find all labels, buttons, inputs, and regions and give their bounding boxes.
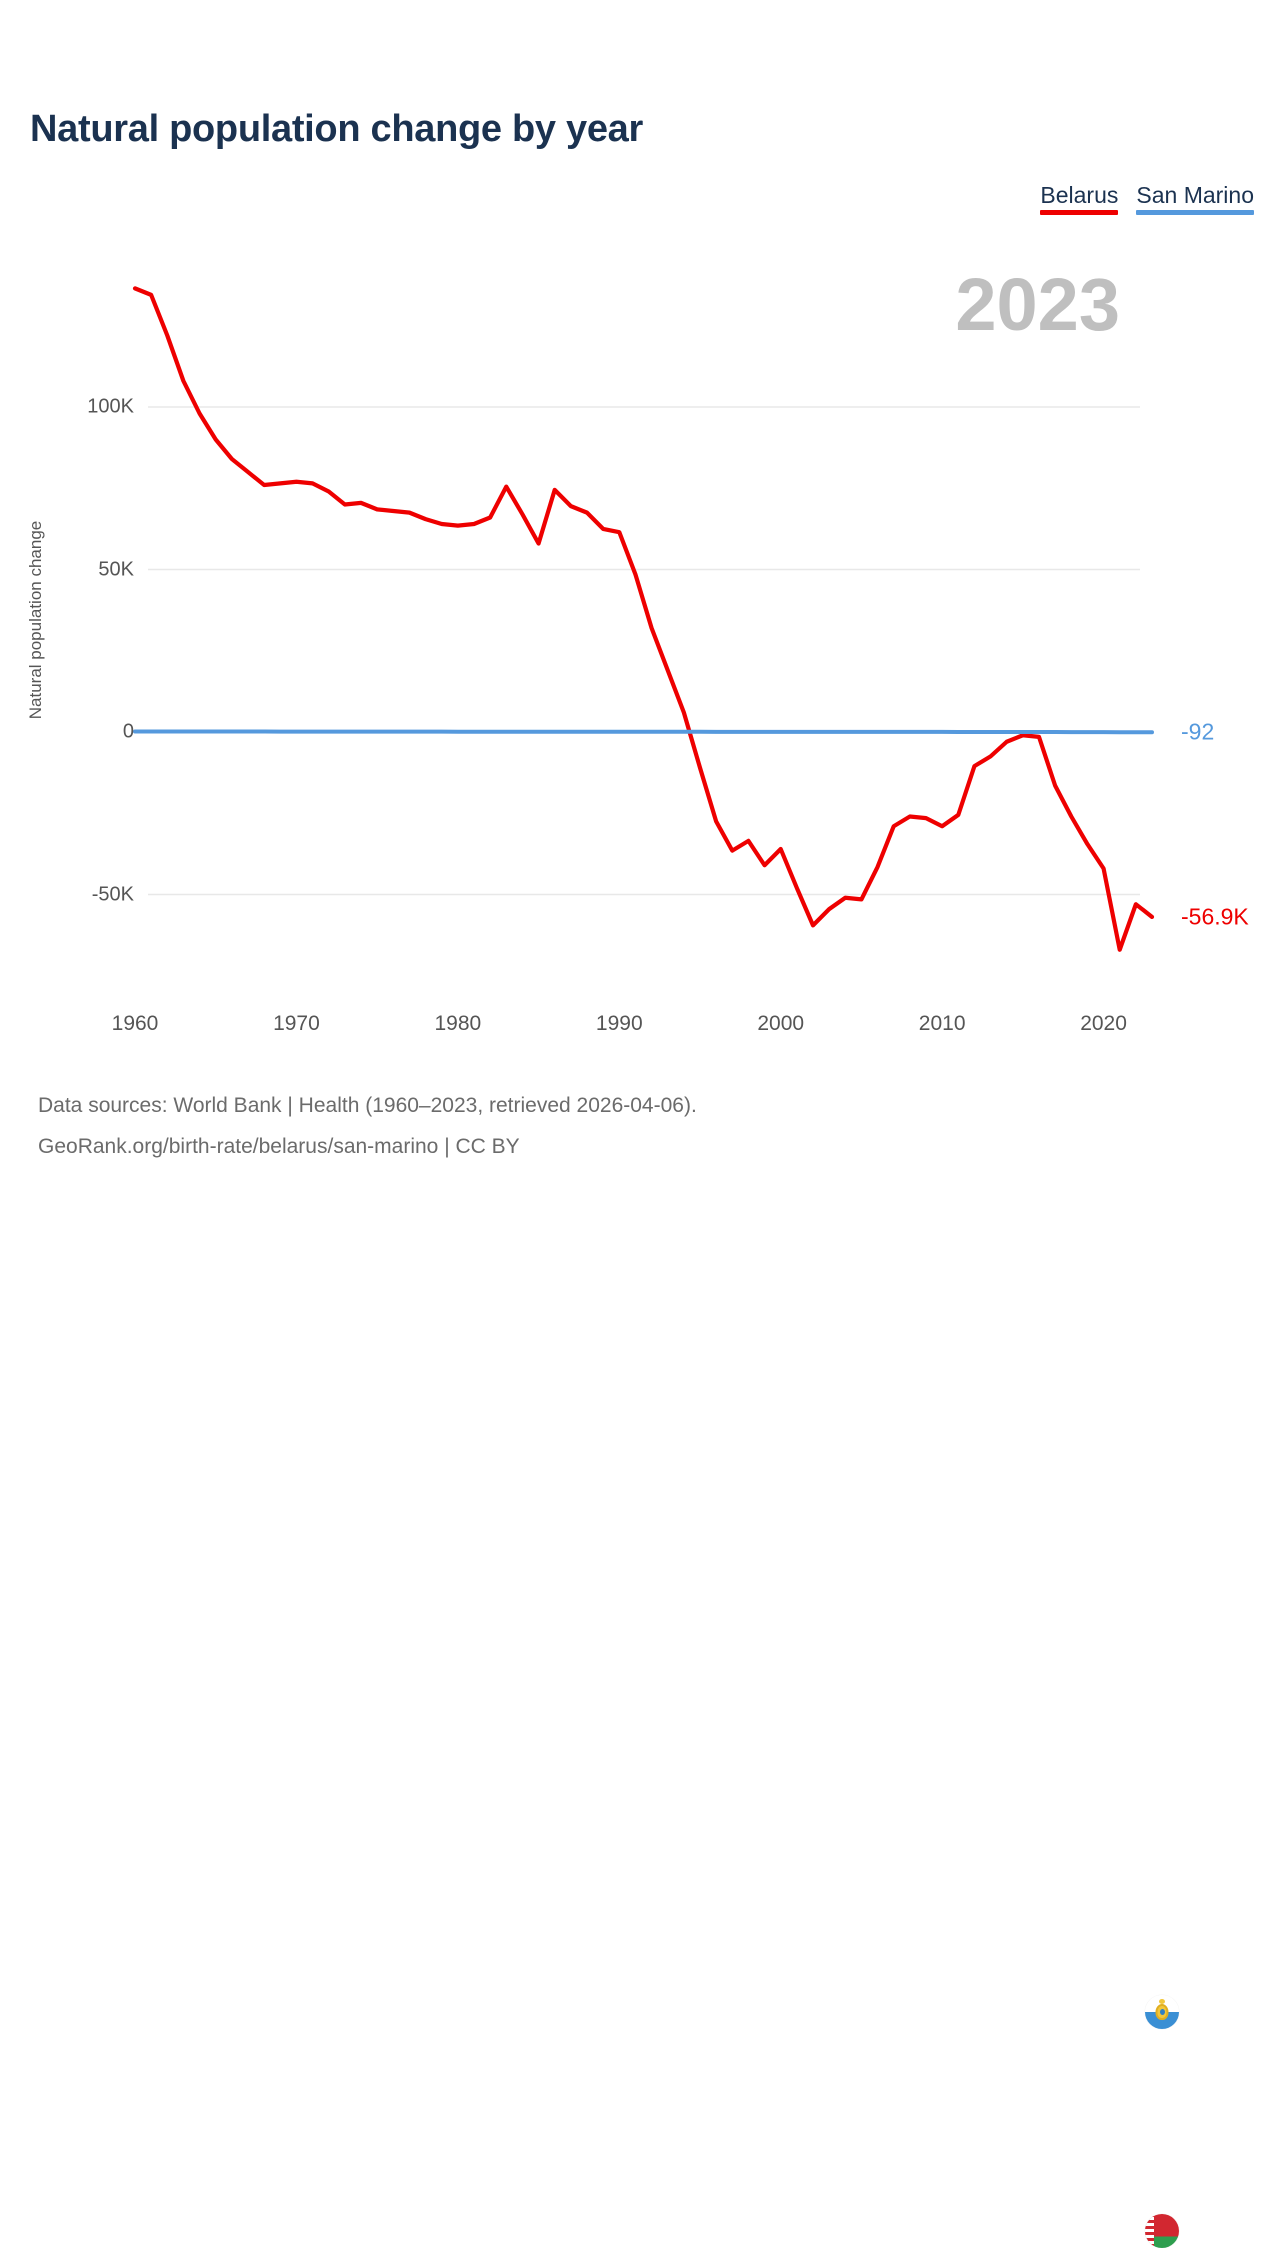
san-marino-flag-icon (1145, 1995, 1179, 2029)
footer-line-url: GeoRank.org/birth-rate/belarus/san-marin… (38, 1126, 697, 1167)
series-line-belarus (135, 288, 1152, 949)
footer-credits: Data sources: World Bank | Health (1960–… (38, 1085, 697, 1167)
series-endpoint-layer: -92-56.9K (0, 1280, 1280, 1348)
y-axis-tick-label: 50K (98, 558, 134, 581)
x-axis-tick-label: 1990 (596, 1012, 643, 1036)
y-axis-title: Natural population change (26, 490, 46, 750)
san-marino-end-value: -92 (1181, 719, 1214, 746)
x-axis-tick-label: 2010 (919, 1012, 966, 1036)
chart-page: Natural population change by year Belaru… (0, 0, 1280, 1280)
y-axis-tick-label: 100K (87, 396, 134, 419)
x-axis-tick-label: 2020 (1080, 1012, 1127, 1036)
series-line-san-marino (135, 731, 1152, 732)
san-marino-emblem-crown (1159, 1999, 1165, 2004)
x-axis-tick-label: 1980 (434, 1012, 481, 1036)
san-marino-emblem (1156, 2004, 1169, 2020)
belarus-ornament-pattern (1145, 2214, 1154, 2248)
y-axis-tick-label: 0 (123, 721, 134, 744)
footer-line-sources: Data sources: World Bank | Health (1960–… (38, 1085, 697, 1126)
san-marino-emblem-center (1160, 2009, 1165, 2015)
belarus-end-value: -56.9K (1181, 903, 1249, 930)
belarus-flag-icon (1145, 2214, 1179, 2248)
x-axis-tick-label: 1970 (273, 1012, 320, 1036)
x-axis-tick-label: 2000 (757, 1012, 804, 1036)
x-axis-tick-label: 1960 (112, 1012, 159, 1036)
y-axis-tick-label: -50K (92, 883, 134, 906)
